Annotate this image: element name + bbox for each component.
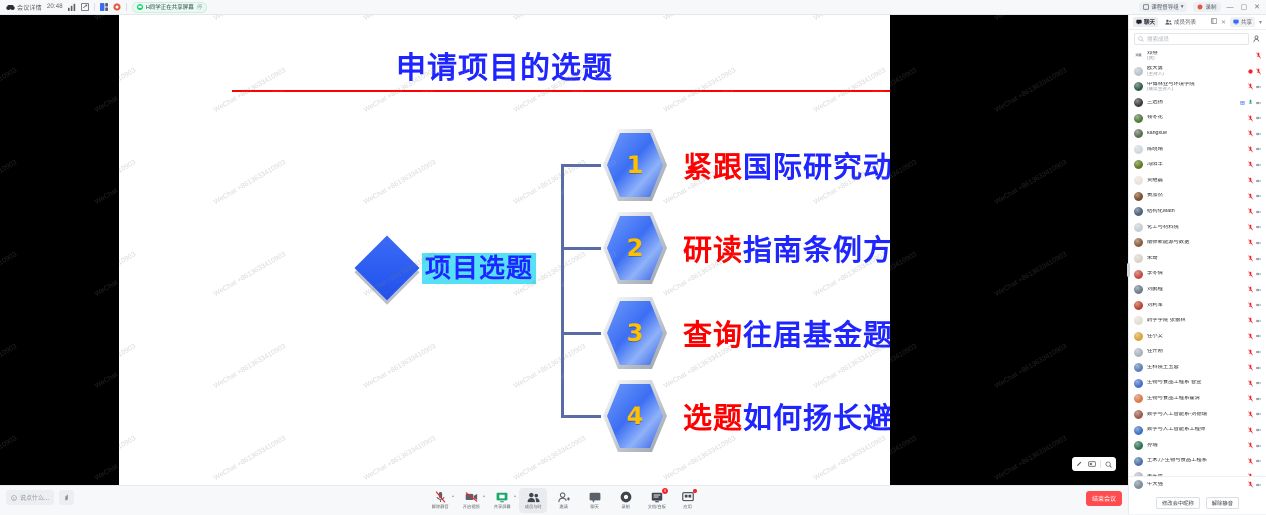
- member-name: 生物与食品工程系霍清: [1147, 396, 1244, 402]
- share-stop-label[interactable]: 停: [197, 3, 203, 11]
- connector-branch-3: [561, 332, 601, 335]
- watermark-text: WeChat +8613633410903: [213, 251, 287, 298]
- notification-badge: 9: [662, 488, 668, 494]
- layout-icon[interactable]: [100, 3, 108, 11]
- member-name-block: kangxue: [1147, 131, 1244, 137]
- hexagon-badge-2: 2: [601, 210, 669, 286]
- control-members[interactable]: 成员与时: [519, 488, 547, 513]
- meeting-info-label: 会议详情: [17, 3, 42, 12]
- self-row[interactable]: 牛大强: [1129, 477, 1266, 492]
- popout-icon[interactable]: [1211, 18, 1217, 26]
- member-status-icons: [1248, 67, 1261, 75]
- item-1-rest: 国际研究动态: [743, 150, 890, 184]
- rename-button[interactable]: 修改会中昵称: [1156, 497, 1200, 509]
- member-row[interactable]: 结构化Math: [1129, 204, 1266, 220]
- slide-item-4-text: 选题如何扬长避短: [683, 395, 890, 437]
- member-row[interactable]: 生物与食品工程系 智萱: [1129, 375, 1266, 391]
- mic-muted-icon[interactable]: [1248, 364, 1253, 372]
- member-status-icons: [1248, 348, 1261, 356]
- member-name-block: 土木力-生物与食品工程系: [1147, 458, 1244, 464]
- item-3-rest: 往届基金题目: [743, 318, 890, 352]
- root-label: 项目选题: [422, 253, 536, 284]
- annotation-toolbar[interactable]: [1072, 457, 1116, 471]
- mic-muted-icon: [435, 491, 446, 503]
- mic-on-icon[interactable]: [1248, 99, 1253, 107]
- hexagon-number-3: 3: [601, 295, 669, 371]
- mic-muted-icon[interactable]: [1248, 145, 1253, 153]
- watermark-text: WeChat +8613633410903: [363, 15, 437, 22]
- watermark-text: WeChat +8613633410903: [994, 15, 1068, 22]
- member-name-block: 邓燕(我): [1147, 51, 1252, 61]
- mic-muted-icon[interactable]: [1248, 270, 1253, 278]
- hexagon-badge-4: 4: [601, 378, 669, 454]
- mic-muted-icon[interactable]: [1248, 379, 1253, 387]
- mic-muted-icon[interactable]: [1248, 348, 1253, 356]
- slide-item-2: 2 研读指南条例方向: [601, 210, 890, 286]
- chevron-up-icon[interactable]: ▴: [514, 493, 516, 498]
- watermark-text: WeChat +8613633410903: [213, 435, 287, 482]
- member-row[interactable]: 中博林业与环境学院(联席主持人): [1129, 79, 1266, 95]
- avatar: [1134, 332, 1143, 341]
- video-off-icon[interactable]: [1256, 410, 1261, 418]
- control-camera-off[interactable]: 开启视频▴: [457, 488, 485, 513]
- watermark-text: WeChat +8613633410903: [513, 435, 587, 482]
- chat-icon: [589, 491, 601, 503]
- member-status-icons: [1248, 379, 1261, 387]
- notification-dot: [693, 489, 697, 493]
- mic-muted-icon[interactable]: [1248, 410, 1253, 418]
- video-off-icon[interactable]: [1256, 239, 1261, 247]
- avatar: [1134, 192, 1143, 201]
- member-name-block: 生物与食品工程系霍清: [1147, 396, 1244, 402]
- network-icon[interactable]: [68, 3, 76, 11]
- member-name: 任开刚: [1147, 349, 1244, 355]
- top-bar: 会议详情 20:48 H同学正在共享屏幕 停 课程督导组: [0, 0, 1266, 15]
- member-row[interactable]: 邓燕邓燕(我): [1129, 48, 1266, 64]
- search-input[interactable]: 搜索成员: [1134, 33, 1249, 45]
- maximize-button[interactable]: ▢: [1241, 3, 1248, 11]
- mic-muted-icon[interactable]: [1256, 52, 1261, 60]
- screenshot-icon[interactable]: [81, 3, 89, 11]
- watermark-text: WeChat +8613633410903: [213, 159, 287, 206]
- tab-members[interactable]: 成员列表: [1162, 17, 1199, 27]
- watermark-text: WeChat +8613633410903: [119, 251, 137, 298]
- member-name: 刘鹏程: [1147, 287, 1244, 293]
- connector-branch-4: [561, 415, 601, 418]
- member-status-icons: [1248, 332, 1261, 340]
- member-row[interactable]: 刘鹏程: [1129, 282, 1266, 298]
- meeting-info-button[interactable]: 会议详情: [6, 3, 42, 12]
- member-status-icons: [1248, 177, 1261, 185]
- scrollbar-thumb[interactable]: [1129, 263, 1130, 277]
- mic-muted-icon[interactable]: [1248, 255, 1253, 263]
- control-record[interactable]: 录制: [612, 488, 640, 513]
- member-row[interactable]: 朱琦: [1129, 251, 1266, 267]
- record-tag[interactable]: 录制: [1193, 2, 1220, 12]
- member-name: 黄加然: [1147, 193, 1244, 199]
- chevron-up-icon[interactable]: ▴: [452, 493, 454, 498]
- end-meeting-button[interactable]: 结束会议: [1086, 491, 1122, 506]
- member-row[interactable]: 药学学院 张蕾林: [1129, 313, 1266, 329]
- quick-chat-input[interactable]: 说点什么...: [6, 490, 54, 505]
- video-off-icon[interactable]: [1256, 99, 1261, 107]
- window-controls: — ▢ ✕: [1227, 3, 1261, 11]
- record-icon[interactable]: [113, 3, 121, 11]
- member-name-block: 冯阳羊: [1147, 162, 1244, 168]
- member-name-block: 任小文: [1147, 334, 1244, 340]
- member-name-block: 钱冬花: [1147, 115, 1244, 121]
- tab-chat[interactable]: 聊天: [1133, 17, 1158, 27]
- video-off-icon[interactable]: [1256, 481, 1261, 489]
- member-name-block: 欧大勇(主持人): [1147, 66, 1244, 76]
- panel-share-button[interactable]: 共享: [1230, 17, 1255, 27]
- member-name-block: 生物与食品工程系 智萱: [1147, 380, 1244, 386]
- member-status-icons: [1248, 426, 1261, 434]
- video-off-icon[interactable]: [1256, 301, 1261, 309]
- video-off-icon[interactable]: [1256, 145, 1261, 153]
- watermark-text: WeChat +8613633410903: [994, 159, 1068, 206]
- watermark-text: WeChat +8613633410903: [0, 435, 18, 482]
- members-panel: 聊天 成员列表 ✕ 共享 ▾ 搜索成员: [1128, 15, 1266, 514]
- member-status-icons: [1248, 270, 1261, 278]
- mic-muted-icon[interactable]: [1248, 208, 1253, 216]
- mic-muted-icon[interactable]: [1248, 286, 1253, 294]
- hexagon-number-4: 4: [601, 378, 669, 454]
- member-name-block: 数学与人工智能系工程师: [1147, 427, 1244, 433]
- video-off-icon[interactable]: [1256, 161, 1261, 169]
- close-button[interactable]: ✕: [1254, 3, 1260, 11]
- member-status-icons: [1248, 395, 1261, 403]
- watermark-text: WeChat +8613633410903: [0, 15, 18, 22]
- member-name: 数学与人工智能系工程师: [1147, 427, 1244, 433]
- mic-muted-icon[interactable]: [1248, 161, 1253, 169]
- member-name: 数学与人工智能系-刘德瑞: [1147, 412, 1244, 418]
- members-list[interactable]: 邓燕邓燕(我)欧大勇(主持人)中博林业与环境学院(联席主持人)兰远扬钱冬花kan…: [1129, 48, 1266, 476]
- video-off-icon[interactable]: [1256, 130, 1261, 138]
- watermark-text: WeChat +8613633410903: [0, 67, 18, 114]
- watermark-text: WeChat +8613633410903: [119, 343, 137, 390]
- search-placeholder: 搜索成员: [1147, 35, 1169, 43]
- bottom-toolbar: 说点什么... 解除静音▴开启视频▴共享屏幕▴成员与时邀请聊天录制文档/白板9应…: [0, 485, 1128, 515]
- item-2-rest: 指南条例方向: [743, 233, 890, 267]
- screen-share-icon[interactable]: [1240, 99, 1245, 107]
- watermark-text: WeChat +8613633410903: [119, 435, 137, 482]
- hexagon-badge-3: 3: [601, 295, 669, 371]
- video-off-icon[interactable]: [1256, 223, 1261, 231]
- footer-buttons: 修改会中昵称 解除静音: [1129, 492, 1266, 514]
- item-4-highlight: 选题: [683, 401, 743, 435]
- avatar: [1134, 457, 1143, 466]
- self-name: 牛大强: [1147, 482, 1244, 488]
- member-row[interactable]: 任小文: [1129, 329, 1266, 345]
- control-share-screen[interactable]: 共享屏幕▴: [488, 488, 516, 513]
- mic-muted-icon[interactable]: [1248, 223, 1253, 231]
- control-label: 聊天: [591, 504, 599, 510]
- member-row[interactable]: 数学与人工智能系工程师: [1129, 422, 1266, 438]
- member-row[interactable]: 欧大勇(主持人): [1129, 64, 1266, 80]
- mic-muted-icon[interactable]: [1248, 481, 1253, 489]
- control-mic-muted[interactable]: 解除静音▴: [426, 488, 454, 513]
- member-name-block: 朱琦: [1147, 256, 1244, 262]
- video-off-icon[interactable]: [1256, 270, 1261, 278]
- video-off-icon[interactable]: [1256, 208, 1261, 216]
- member-status-icons: [1248, 286, 1261, 294]
- avatar: [1134, 223, 1143, 232]
- member-status-icons: [1248, 161, 1261, 169]
- unmute-button[interactable]: 解除静音: [1206, 497, 1239, 509]
- watermark-text: WeChat +8613633410903: [363, 435, 437, 482]
- mic-muted-icon[interactable]: [1248, 114, 1253, 122]
- share-status-banner[interactable]: H同学正在共享屏幕 停: [132, 2, 208, 13]
- member-name-block: 陈晓晴: [1147, 147, 1244, 153]
- panel-more-chevron-down-icon[interactable]: ▾: [1259, 19, 1262, 26]
- share-status-label: H同学正在共享屏幕: [146, 3, 194, 11]
- mic-muted-icon[interactable]: [1248, 426, 1253, 434]
- member-row[interactable]: kangxue: [1129, 126, 1266, 142]
- video-off-icon[interactable]: [1256, 379, 1261, 387]
- avatar: [1134, 480, 1143, 489]
- hexagon-badge-1: 1: [601, 127, 669, 203]
- watermark-text: WeChat +8613633410903: [813, 15, 887, 22]
- watermark-text: WeChat +8613633410903: [994, 251, 1068, 298]
- mic-muted-icon[interactable]: [1248, 442, 1253, 450]
- member-name: 南师新能源与数据: [1147, 240, 1244, 246]
- control-invite[interactable]: 邀请: [550, 488, 578, 513]
- mic-muted-icon[interactable]: [1248, 301, 1253, 309]
- avatar: [1134, 379, 1143, 388]
- video-off-icon[interactable]: [1256, 177, 1261, 185]
- video-off-icon[interactable]: [1256, 426, 1261, 434]
- hexagon-number-2: 2: [601, 210, 669, 286]
- control-label: 邀请: [560, 504, 568, 510]
- tag-icon: [1143, 4, 1149, 10]
- mic-muted-icon[interactable]: [1248, 239, 1253, 247]
- camera-off-icon: [465, 491, 478, 503]
- member-row[interactable]: 陈晓晴: [1129, 142, 1266, 158]
- recording-icon: [1248, 67, 1253, 75]
- mic-muted-icon[interactable]: [1248, 395, 1253, 403]
- video-off-icon[interactable]: [1256, 395, 1261, 403]
- member-name-block: 结构化Math: [1147, 209, 1244, 215]
- member-row[interactable]: 化工与材料院: [1129, 220, 1266, 236]
- connector-vertical: [561, 164, 564, 418]
- mic-muted-icon[interactable]: [1256, 67, 1261, 75]
- slide-item-3-text: 查询往届基金题目: [683, 312, 890, 354]
- title-underline: [232, 90, 890, 92]
- member-name-block: 药学学院 张蕾林: [1147, 318, 1244, 324]
- avatar: [1134, 301, 1143, 310]
- member-status-icons: [1248, 239, 1261, 247]
- member-name: 刘利军: [1147, 303, 1244, 309]
- reaction-button[interactable]: [59, 490, 74, 505]
- members-icon: [1165, 19, 1172, 25]
- slide-item-3: 3 查询往届基金题目: [601, 295, 890, 371]
- member-row[interactable]: 土木力-生物与食品工程系: [1129, 453, 1266, 469]
- watermark-text: WeChat +8613633410903: [0, 251, 18, 298]
- member-status-icons: [1248, 223, 1261, 231]
- slide-item-2-text: 研读指南条例方向: [683, 227, 890, 269]
- member-row[interactable]: 李冬倩: [1129, 266, 1266, 282]
- mic-muted-icon[interactable]: [1248, 457, 1253, 465]
- watermark-text: WeChat +8613633410903: [994, 343, 1068, 390]
- avatar: [1134, 441, 1143, 450]
- member-name: 兰远扬: [1147, 100, 1236, 106]
- tencent-meeting-window: 会议详情 20:48 H同学正在共享屏幕 停 课程督导组: [0, 0, 1266, 514]
- member-row[interactable]: 贾继磊: [1129, 173, 1266, 189]
- meeting-controls: 解除静音▴开启视频▴共享屏幕▴成员与时邀请聊天录制文档/白板9应用: [426, 488, 702, 513]
- slide-title: 申请项目的选题: [119, 43, 890, 87]
- video-off-icon[interactable]: [1256, 114, 1261, 122]
- member-role: (联席主持人): [1147, 87, 1244, 92]
- member-name-block: 任开刚: [1147, 349, 1244, 355]
- video-off-icon[interactable]: [1256, 364, 1261, 372]
- mic-muted-icon[interactable]: [1248, 177, 1253, 185]
- video-off-icon[interactable]: [1256, 442, 1261, 450]
- member-name: 朱琦: [1147, 256, 1244, 262]
- member-row[interactable]: 生科院王玉蓉: [1129, 360, 1266, 376]
- avatar: [1134, 129, 1143, 138]
- member-status-icons: [1248, 442, 1261, 450]
- video-off-icon[interactable]: [1256, 192, 1261, 200]
- search-icon: [1138, 36, 1144, 42]
- hand-raise-icon: [63, 494, 70, 501]
- mic-muted-icon[interactable]: [1248, 83, 1253, 91]
- root-label-text: 项目选题: [425, 256, 533, 282]
- zoom-view-icon[interactable]: [1103, 459, 1114, 470]
- mic-muted-icon[interactable]: [1248, 317, 1253, 325]
- video-off-icon[interactable]: [1256, 348, 1261, 356]
- avatar: [1134, 114, 1143, 123]
- watermark-text: WeChat +8613633410903: [119, 159, 137, 206]
- member-role: (我): [1147, 56, 1252, 61]
- member-row[interactable]: 任开刚: [1129, 344, 1266, 360]
- control-apps[interactable]: 应用: [674, 488, 702, 513]
- add-person-icon[interactable]: [1253, 30, 1261, 48]
- video-off-icon[interactable]: [1256, 317, 1261, 325]
- emoji-icon: [11, 495, 17, 501]
- member-name: 贾继磊: [1147, 178, 1244, 184]
- member-name-block: 刘鹏程: [1147, 287, 1244, 293]
- tab-chat-label: 聊天: [1144, 18, 1155, 26]
- control-label: 共享屏幕: [494, 504, 511, 510]
- avatar: [1134, 67, 1143, 76]
- members-icon: [527, 491, 540, 503]
- control-label: 解除静音: [432, 504, 449, 510]
- member-row[interactable]: 南师新能源与数据: [1129, 235, 1266, 251]
- close-icon[interactable]: ✕: [1221, 19, 1226, 26]
- video-off-icon[interactable]: [1256, 332, 1261, 340]
- divider: [126, 3, 127, 11]
- control-label: 录制: [622, 504, 630, 510]
- member-name-block: 化工与材料院: [1147, 225, 1244, 231]
- member-name-block: 黄加然: [1147, 193, 1244, 199]
- member-name: 钱冬花: [1147, 115, 1244, 121]
- avatar: [1134, 394, 1143, 403]
- member-name: 陈晓晴: [1147, 147, 1244, 153]
- watermark-text: WeChat +8613633410903: [213, 15, 287, 22]
- member-search-row: 搜索成员: [1129, 30, 1266, 48]
- chevron-up-icon[interactable]: ▴: [483, 493, 485, 498]
- remote-control-icon[interactable]: [1086, 459, 1098, 470]
- invite-icon: [558, 491, 570, 503]
- member-name: 李冬倩: [1147, 271, 1244, 277]
- member-name-block: 生科院王玉蓉: [1147, 365, 1244, 371]
- minimize-button[interactable]: —: [1227, 4, 1234, 11]
- chat-icon: [1136, 19, 1142, 25]
- mic-muted-icon[interactable]: [1248, 192, 1253, 200]
- member-row[interactable]: 冯阳羊: [1129, 157, 1266, 173]
- member-name: 冯阳羊: [1147, 162, 1244, 168]
- member-status-icons: [1248, 145, 1261, 153]
- document-icon: [651, 491, 663, 503]
- watermark-text: WeChat +8613633410903: [0, 159, 18, 206]
- member-row[interactable]: 生物与食品工程系霍清: [1129, 391, 1266, 407]
- watermark-text: WeChat +8613633410903: [513, 343, 587, 390]
- avatar: [1134, 316, 1143, 325]
- member-name-block: 李冬倩: [1147, 271, 1244, 277]
- member-name: 药学学院 张蕾林: [1147, 318, 1244, 324]
- annotate-pen-icon[interactable]: [1074, 459, 1084, 470]
- item-1-highlight: 紧跟: [683, 150, 743, 184]
- avatar: [1134, 160, 1143, 169]
- avatar: [1134, 238, 1143, 247]
- share-icon: [1233, 19, 1239, 25]
- meeting-timer: 20:48: [47, 4, 63, 10]
- watermark-text: WeChat +8613633410903: [994, 435, 1068, 482]
- avatar: [1134, 145, 1143, 154]
- member-name: 孙瑞: [1147, 443, 1244, 449]
- member-name: 生物与食品工程系 智萱: [1147, 380, 1244, 386]
- member-status-icons: [1248, 364, 1261, 372]
- slide-item-1: 1 紧跟国际研究动态: [601, 127, 890, 203]
- member-row[interactable]: 数学与人工智能系-刘德瑞: [1129, 407, 1266, 423]
- video-off-icon[interactable]: [1256, 255, 1261, 263]
- record-dot-icon: [1197, 4, 1203, 10]
- divider: [1100, 460, 1101, 468]
- shared-screen-stage[interactable]: WeChat +8613633410903WeChat +86136334109…: [0, 15, 1128, 485]
- member-row[interactable]: 孙瑞: [1129, 438, 1266, 454]
- video-off-icon[interactable]: [1256, 83, 1261, 91]
- avatar: [1134, 363, 1143, 372]
- tab-members-label: 成员列表: [1174, 18, 1196, 26]
- member-row[interactable]: 刘利军: [1129, 298, 1266, 314]
- member-row[interactable]: 丰先彦: [1129, 469, 1266, 476]
- avatar: [1134, 270, 1143, 279]
- member-name: 生科院王玉蓉: [1147, 365, 1244, 371]
- meeting-logo-icon: [6, 4, 15, 11]
- watermark-text: WeChat +8613633410903: [513, 15, 587, 22]
- watermark-text: WeChat +8613633410903: [994, 67, 1068, 114]
- mic-muted-icon[interactable]: [1248, 130, 1253, 138]
- member-name-block: 中博林业与环境学院(联席主持人): [1147, 82, 1244, 92]
- avatar: [1134, 82, 1143, 91]
- item-2-highlight: 研读: [683, 233, 743, 267]
- control-document[interactable]: 文档/白板9: [643, 488, 671, 513]
- watermark-text: WeChat +8613633410903: [119, 15, 137, 22]
- slide-item-4: 4 选题如何扬长避短: [601, 378, 890, 454]
- meeting-tag[interactable]: 课程督导组 ▾: [1139, 2, 1187, 12]
- member-status-icons: [1248, 410, 1261, 418]
- watermark-text: WeChat +8613633410903: [0, 343, 18, 390]
- video-off-icon[interactable]: [1256, 457, 1261, 465]
- video-off-icon[interactable]: [1256, 286, 1261, 294]
- mic-muted-icon[interactable]: [1248, 332, 1253, 340]
- member-row[interactable]: 黄加然: [1129, 188, 1266, 204]
- control-chat[interactable]: 聊天: [581, 488, 609, 513]
- member-name-block: 刘利军: [1147, 303, 1244, 309]
- member-row[interactable]: 兰远扬: [1129, 95, 1266, 111]
- member-row[interactable]: 钱冬花: [1129, 110, 1266, 126]
